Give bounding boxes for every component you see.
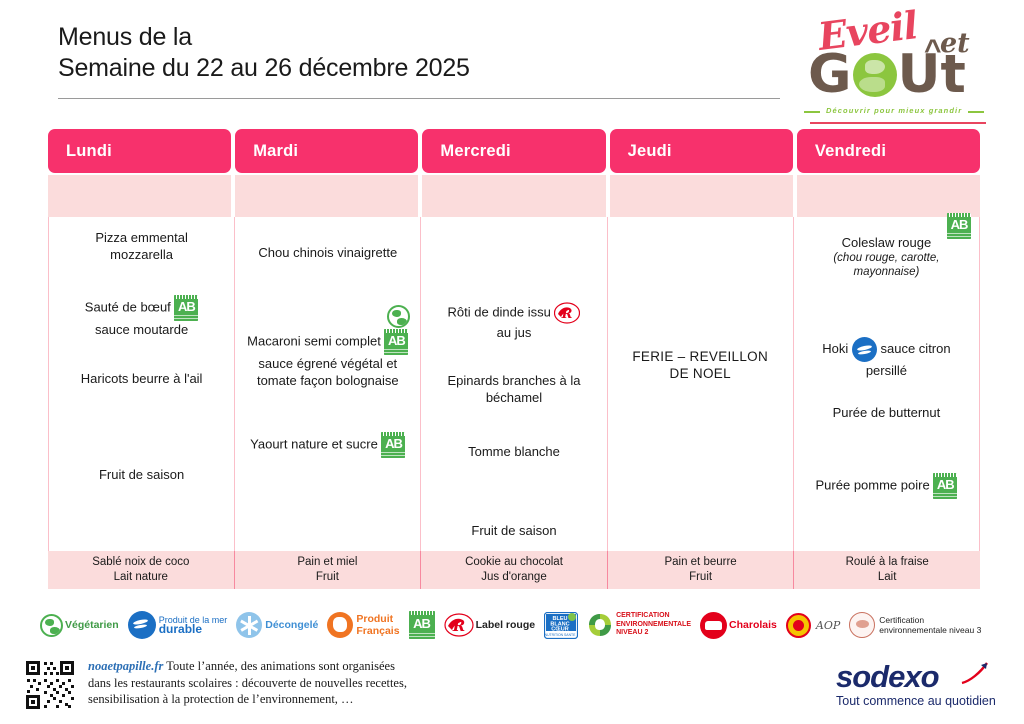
- logo-underline: [810, 122, 986, 124]
- ab-label-icon: AB: [381, 432, 405, 458]
- dish-mardi-3: Yaourt nature et sucre AB: [241, 432, 414, 458]
- dish-lundi-3: Haricots beurre à l'ail: [55, 370, 228, 387]
- svg-text:NUTRITION SANTE: NUTRITION SANTE: [545, 633, 576, 637]
- dish-vendredi-4: Purée pomme poire AB: [800, 473, 973, 499]
- bleu-blanc-coeur-icon: BLEU BLANC CŒUR NUTRITION SANTE: [544, 612, 578, 639]
- starter-band-lundi: [48, 175, 231, 217]
- legend-item-certification-env-3: Certification environnementale niveau 3: [849, 612, 981, 638]
- page-title-line2: Semaine du 22 au 26 décembre 2025: [58, 53, 778, 84]
- day-header-row: Lundi Mardi Mercredi Jeudi Vendredi: [48, 129, 980, 173]
- dish-mercredi-3: Tomme blanche: [427, 443, 600, 460]
- legend-label-produit-francais: ProduitFrançais: [356, 613, 399, 637]
- day-header-lundi: Lundi: [48, 129, 231, 173]
- france-map-icon: [327, 612, 353, 638]
- legend-item-produit-francais: ProduitFrançais: [327, 612, 399, 638]
- legend-label-certification-env-2: CERTIFICATION ENVIRONNEMENTALE NIVEAU 2: [616, 612, 691, 638]
- logo-letters-ut: Ut: [898, 48, 966, 101]
- legend-item-decongele: Décongelé: [236, 612, 318, 638]
- starter-band-mercredi: [422, 175, 605, 217]
- ab-label-icon: AB: [384, 329, 408, 355]
- svg-text:CŒUR: CŒUR: [551, 626, 568, 632]
- starter-band-row: [48, 175, 980, 217]
- day-header-jeudi: Jeudi: [610, 129, 793, 173]
- globe-icon: [853, 53, 897, 97]
- day-header-mercredi: Mercredi: [422, 129, 605, 173]
- legend-row: Végétarien Produit de la merdurable Déco…: [40, 604, 990, 646]
- vegetarian-icon: [387, 305, 410, 328]
- day-header-vendredi: Vendredi: [797, 129, 980, 173]
- title-divider: [58, 98, 780, 99]
- ab-label-icon: AB: [933, 473, 957, 499]
- menu-body: Pizza emmental mozzarella Sauté de bœuf …: [48, 217, 980, 557]
- dish-lundi-1: Pizza emmental mozzarella: [55, 229, 228, 263]
- legend-label-charolais: Charolais: [729, 619, 777, 631]
- logo-tagline: Découvrir pour mieux grandir: [826, 106, 962, 115]
- snowflake-icon: [236, 612, 262, 638]
- menu-column-mardi: Chou chinois vinaigrette Macaroni semi c…: [234, 217, 420, 557]
- menu-column-vendredi: AB Coleslaw rouge (chou rouge, carotte, …: [793, 217, 980, 557]
- aop-badge-icon: [786, 613, 811, 638]
- menu-column-mercredi: Rôti de dinde issu R au jus Epinards bra…: [420, 217, 606, 557]
- legend-label-label-rouge: Label rouge: [476, 619, 536, 631]
- starter-band-jeudi: [610, 175, 793, 217]
- snack-cell-jeudi: Pain et beurreFruit: [607, 551, 794, 589]
- snack-cell-vendredi: Roulé à la fraiseLait: [793, 551, 980, 589]
- svg-text:R: R: [561, 307, 573, 322]
- legend-item-aop: AOP: [786, 613, 840, 638]
- logo-gout-group: G Ut: [808, 48, 966, 101]
- starter-band-vendredi: [797, 175, 980, 217]
- footer-text-line1: Toute l’année, des animations sont organ…: [166, 659, 395, 673]
- dish-vendredi-3: Purée de butternut: [800, 404, 973, 421]
- legend-item-certification-env-2: CERTIFICATION ENVIRONNEMENTALE NIVEAU 2: [587, 612, 691, 638]
- vegetarian-badge-mardi: [241, 305, 414, 328]
- footer-description: noaetpapille.fr Toute l’année, des anima…: [88, 658, 488, 708]
- svg-text:R: R: [451, 617, 464, 635]
- dish-mardi-1: Chou chinois vinaigrette: [241, 244, 414, 261]
- legend-label-certification-env-3: Certification environnementale niveau 3: [879, 615, 981, 636]
- label-rouge-icon: R: [554, 302, 580, 324]
- label-rouge-icon: R: [444, 613, 474, 637]
- ab-label-icon: AB: [174, 295, 198, 321]
- legend-label-vegetarien: Végétarien: [65, 619, 119, 631]
- dish-lundi-4: Fruit de saison: [55, 466, 228, 483]
- certification-niveau3-icon: [849, 612, 875, 638]
- snack-row: Sablé noix de cocoLait nature Pain et mi…: [48, 551, 980, 589]
- qr-code-icon[interactable]: [24, 659, 76, 711]
- sustainable-seafood-icon: [852, 337, 877, 362]
- sodexo-swoosh-icon: [960, 661, 990, 687]
- footer-text-line2: dans les restaurants scolaires : découve…: [88, 676, 407, 690]
- legend-label-seafood: Produit de la merdurable: [159, 616, 228, 634]
- dish-jeudi-holiday: FERIE – REVEILLON DE NOEL: [614, 348, 787, 382]
- legend-label-decongele: Décongelé: [265, 619, 318, 631]
- footer-text-line3: sensibilisation à la protection de l’env…: [88, 692, 354, 706]
- dish-mercredi-4: Fruit de saison: [427, 522, 600, 539]
- snack-cell-mercredi: Cookie au chocolatJus d'orange: [420, 551, 607, 589]
- vegetarian-icon: [40, 614, 63, 637]
- page-header: Menus de la Semaine du 22 au 26 décembre…: [0, 0, 1024, 120]
- page-title: Menus de la Semaine du 22 au 26 décembre…: [58, 22, 778, 84]
- legend-item-ab: AB: [409, 611, 435, 639]
- page-title-line1: Menus de la: [58, 22, 778, 53]
- logo-letter-g: G: [808, 48, 852, 101]
- sodexo-tagline: Tout commence au quotidien: [836, 694, 1006, 708]
- dish-vendredi-1: Coleslaw rouge (chou rouge, carotte, may…: [800, 234, 973, 279]
- legend-label-aop: AOP: [816, 619, 840, 632]
- dish-mercredi-1: Rôti de dinde issu R au jus: [427, 302, 600, 341]
- certification-environnementale-icon: [587, 612, 613, 638]
- legend-item-vegetarien: Végétarien: [40, 614, 119, 637]
- snack-cell-mardi: Pain et mielFruit: [234, 551, 421, 589]
- sodexo-wordmark: sodexo: [836, 661, 1006, 693]
- legend-item-bleu-blanc-coeur: BLEU BLANC CŒUR NUTRITION SANTE: [544, 612, 578, 639]
- legend-item-charolais: Charolais: [700, 612, 777, 639]
- menu-column-lundi: Pizza emmental mozzarella Sauté de bœuf …: [48, 217, 234, 557]
- menu-column-jeudi: FERIE – REVEILLON DE NOEL: [607, 217, 793, 557]
- charolais-cow-icon: [700, 612, 727, 639]
- legend-item-sustainable-seafood: Produit de la merdurable: [128, 611, 228, 639]
- sodexo-logo: sodexo Tout commence au quotidien: [836, 661, 1006, 708]
- footer-website-link[interactable]: noaetpapille.fr: [88, 659, 163, 673]
- day-header-mardi: Mardi: [235, 129, 418, 173]
- legend-item-label-rouge: R Label rouge: [444, 613, 536, 637]
- dish-mercredi-2: Epinards branches à la béchamel: [427, 372, 600, 406]
- sustainable-seafood-icon: [128, 611, 156, 639]
- dish-vendredi-2: Hoki sauce citron persillé: [800, 337, 973, 379]
- weekly-menu-table: Lundi Mardi Mercredi Jeudi Vendredi Pizz…: [48, 129, 980, 557]
- dish-lundi-2: Sauté de bœuf AB sauce moutarde: [55, 295, 228, 338]
- eveil-et-gout-logo: Eveil et ^ G Ut Découvrir pour mieux gra…: [800, 6, 988, 122]
- ab-label-icon: AB: [409, 611, 435, 639]
- starter-band-mardi: [235, 175, 418, 217]
- snack-cell-lundi: Sablé noix de cocoLait nature: [48, 551, 234, 589]
- dish-mardi-2: Macaroni semi complet AB sauce égrené vé…: [241, 329, 414, 389]
